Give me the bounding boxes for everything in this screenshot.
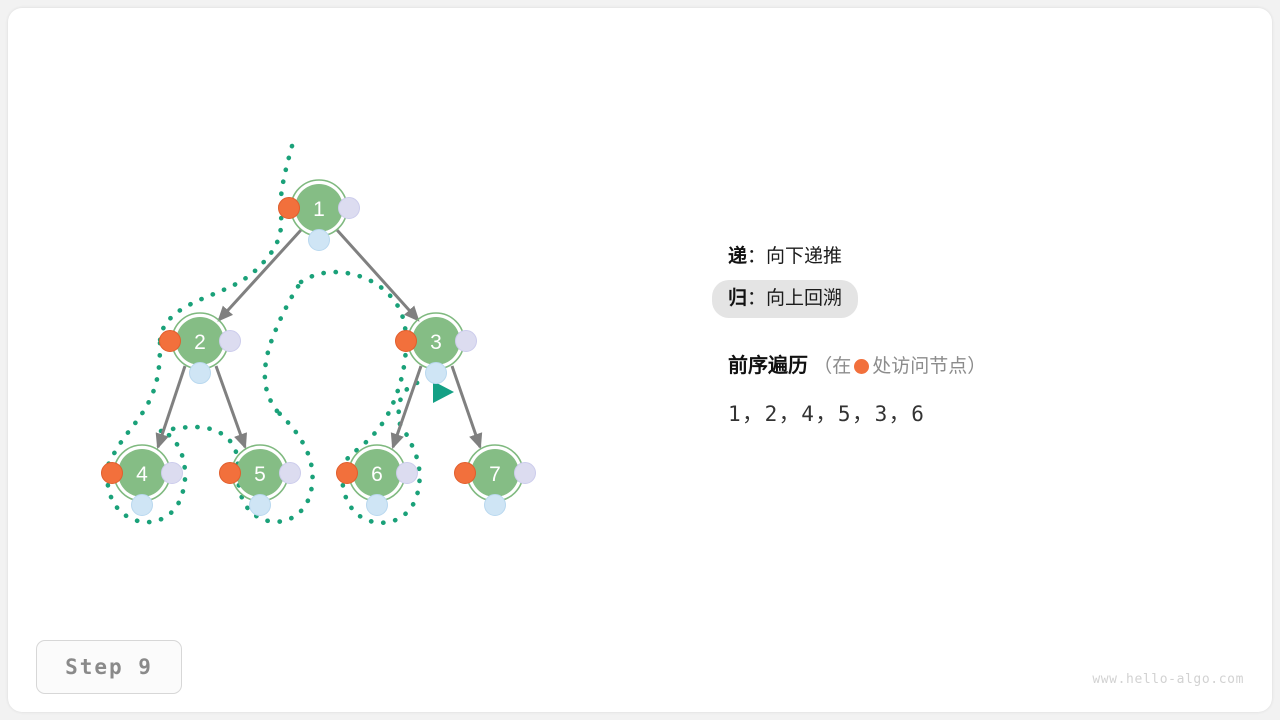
node-bottom-dot[interactable]	[367, 495, 388, 516]
node-value: 1	[313, 198, 325, 221]
node-bottom-dot[interactable]	[132, 495, 153, 516]
step-label: Step 9	[65, 655, 153, 679]
node-bottom-dot[interactable]	[426, 363, 447, 384]
node-value: 4	[136, 463, 148, 486]
edge-2-4	[158, 366, 185, 447]
edge-3-7	[452, 366, 480, 447]
traversal-result: 1，2，4，5，3，6	[728, 398, 1248, 428]
tree-node-3[interactable]: 3	[396, 313, 477, 384]
node-right-dot[interactable]	[280, 463, 301, 484]
node-visit-dot[interactable]	[279, 198, 300, 219]
tree-node-6[interactable]: 6	[337, 445, 418, 516]
node-visit-dot[interactable]	[396, 331, 417, 352]
traversal-title-line: 前序遍历 （在处访问节点）	[728, 352, 1248, 381]
traversal-note-open: （在	[813, 356, 851, 377]
node-visit-dot[interactable]	[220, 463, 241, 484]
traversal-title: 前序遍历	[728, 355, 808, 377]
legend-recurse-text: ：向下递推	[747, 246, 842, 267]
node-bottom-dot[interactable]	[309, 230, 330, 251]
cursor-arrowhead	[433, 381, 454, 403]
node-bottom-dot[interactable]	[485, 495, 506, 516]
path-seg-1-to-3	[301, 272, 406, 343]
watermark: www.hello-algo.com	[1092, 672, 1244, 687]
tree-node-4[interactable]: 4	[102, 445, 183, 516]
page-root: 1 2 3 4	[0, 0, 1280, 720]
path-seg-5-up-to-1	[265, 282, 301, 411]
node-value: 2	[194, 331, 206, 354]
legend-recurse-label: 递	[728, 246, 747, 267]
node-visit-dot[interactable]	[337, 463, 358, 484]
step-badge: Step 9	[36, 640, 182, 694]
traversal-note-close: 处访问节点）	[872, 356, 986, 377]
legend-backtrack-line: 归：向上回溯	[712, 280, 858, 318]
node-value: 7	[489, 463, 501, 486]
visit-dot-icon	[854, 359, 869, 374]
tree-node-2[interactable]: 2	[160, 313, 241, 384]
legend-backtrack-label: 归	[728, 288, 747, 309]
node-value: 6	[371, 463, 383, 486]
legend-panel: 递：向下递推 归：向上回溯 前序遍历 （在处访问节点） 1，2，4，5，3，6	[728, 238, 1248, 428]
node-right-dot[interactable]	[220, 331, 241, 352]
node-visit-dot[interactable]	[102, 463, 123, 484]
node-value: 3	[430, 331, 442, 354]
node-right-dot[interactable]	[397, 463, 418, 484]
tree-node-5[interactable]: 5	[220, 445, 301, 516]
legend-backtrack-text: ：向上回溯	[747, 288, 842, 309]
node-value: 5	[254, 463, 266, 486]
node-visit-dot[interactable]	[160, 331, 181, 352]
node-right-dot[interactable]	[515, 463, 536, 484]
node-right-dot[interactable]	[339, 198, 360, 219]
tree-node-7[interactable]: 7	[455, 445, 536, 516]
node-right-dot[interactable]	[456, 331, 477, 352]
node-visit-dot[interactable]	[455, 463, 476, 484]
node-bottom-dot[interactable]	[250, 495, 271, 516]
edge-1-2	[219, 230, 301, 320]
node-bottom-dot[interactable]	[190, 363, 211, 384]
node-right-dot[interactable]	[162, 463, 183, 484]
legend-recurse-line: 递：向下递推	[728, 238, 1248, 276]
